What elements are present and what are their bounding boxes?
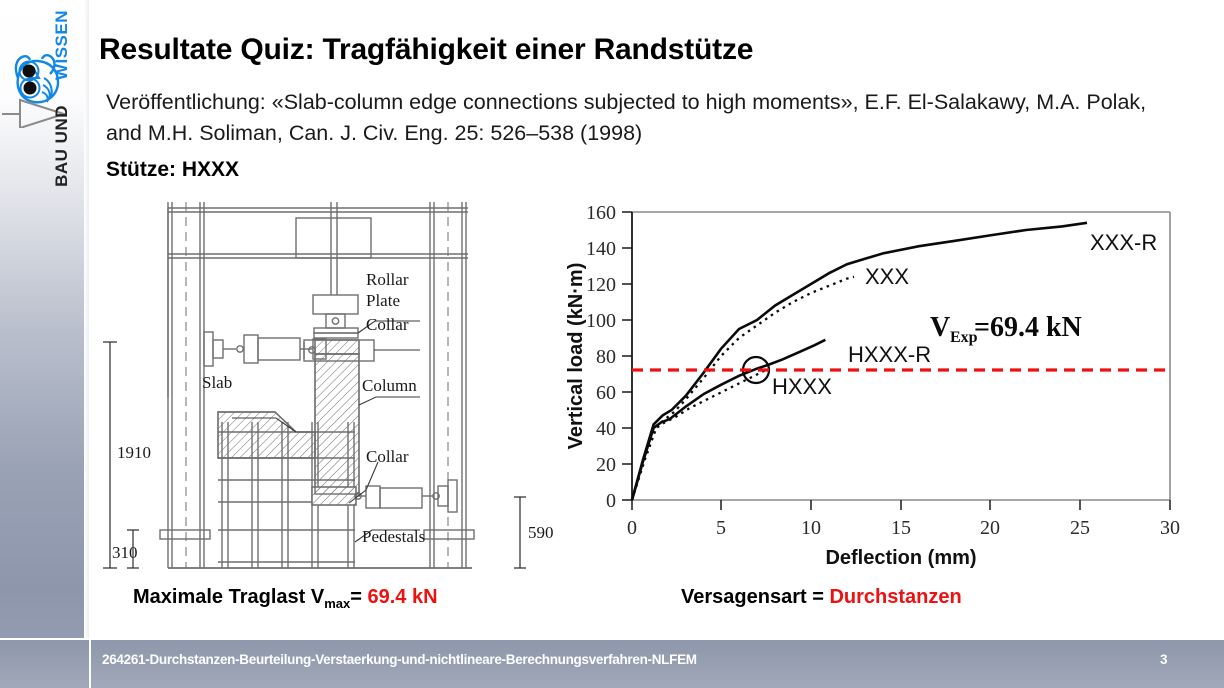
series-HXXX-R: [632, 340, 825, 500]
x-tick-0: 0: [627, 517, 637, 539]
label-rollar-plate-line2: Plate: [366, 291, 400, 310]
dimension-310: 310: [112, 543, 138, 562]
x-tick-15: 15: [891, 517, 911, 539]
y-tick-20: 20: [596, 454, 616, 476]
x-axis-title: Deflection (mm): [825, 547, 976, 569]
sidebar-divider: [89, 0, 91, 640]
publication-reference: Veröffentlichung: «Slab-column edge conn…: [106, 87, 1186, 148]
y-tick-40: 40: [596, 418, 616, 440]
caption-left-equals: =: [350, 586, 367, 608]
annotation-XXX: XXX: [865, 264, 909, 289]
footer-separator: [89, 640, 91, 688]
x-tick-30: 30: [1160, 517, 1180, 539]
page-title: Resultate Quiz: Tragfähigkeit einer Rand…: [99, 33, 753, 67]
label-slab: Slab: [202, 373, 232, 392]
logo-word-wissen: WISSEN: [52, 10, 72, 80]
specimen-label: Stütze: HXXX: [106, 158, 239, 182]
y-axis-title: Vertical load (kN·m): [565, 263, 587, 450]
label-collar-bottom: Collar: [366, 447, 409, 466]
label-collar-top: Collar: [366, 315, 409, 334]
y-tick-60: 60: [596, 382, 616, 404]
footer-document-name: 264261-Durchstanzen-Beurteilung-Verstaer…: [102, 652, 697, 667]
x-tick-10: 10: [801, 517, 821, 539]
y-tick-140: 140: [586, 238, 616, 260]
x-tick-25: 25: [1070, 517, 1090, 539]
caption-left-subscript: max: [324, 596, 350, 611]
caption-right-prefix: Versagensart =: [681, 586, 829, 608]
annotation-XXX-R: XXX-R: [1090, 230, 1157, 255]
caption-left-value: 69.4 kN: [367, 586, 437, 608]
y-tick-0: 0: [606, 490, 616, 512]
x-tick-20: 20: [980, 517, 1000, 539]
caption-max-load: Maximale Traglast Vmax= 69.4 kN: [133, 586, 438, 611]
dimension-590: 590: [528, 523, 554, 542]
y-tick-100: 100: [586, 310, 616, 332]
logo-word-bau-und: BAU UND: [52, 105, 72, 187]
y-tick-120: 120: [586, 274, 616, 296]
dimension-1910: 1910: [117, 443, 151, 462]
footer-page-number: 3: [1160, 652, 1168, 667]
caption-failure-mode: Versagensart = Durchstanzen: [681, 586, 962, 609]
caption-left-prefix: Maximale Traglast V: [133, 586, 324, 608]
annotation-vexp: V Exp =69.4 kN: [930, 312, 1082, 346]
y-tick-80: 80: [596, 346, 616, 368]
y-tick-160: 160: [586, 202, 616, 224]
test-setup-drawing: Rollar Plate Collar Column Slab Collar P…: [100, 190, 560, 580]
annotation-HXXX: HXXX: [772, 374, 832, 399]
label-pedestals: Pedestals: [362, 527, 425, 546]
annotation-HXXX-R: HXXX-R: [848, 342, 931, 367]
x-tick-5: 5: [716, 517, 726, 539]
label-column: Column: [362, 376, 417, 395]
caption-right-value: Durchstanzen: [829, 586, 961, 608]
annotation-vexp-value: =69.4 kN: [974, 312, 1082, 343]
load-deflection-chart: 0 20 40 60 80 100 120 140 160 0 5 10 15 …: [560, 190, 1200, 570]
label-rollar-plate-line1: Rollar: [366, 270, 409, 289]
annotation-vexp-symbol: V: [930, 312, 950, 343]
